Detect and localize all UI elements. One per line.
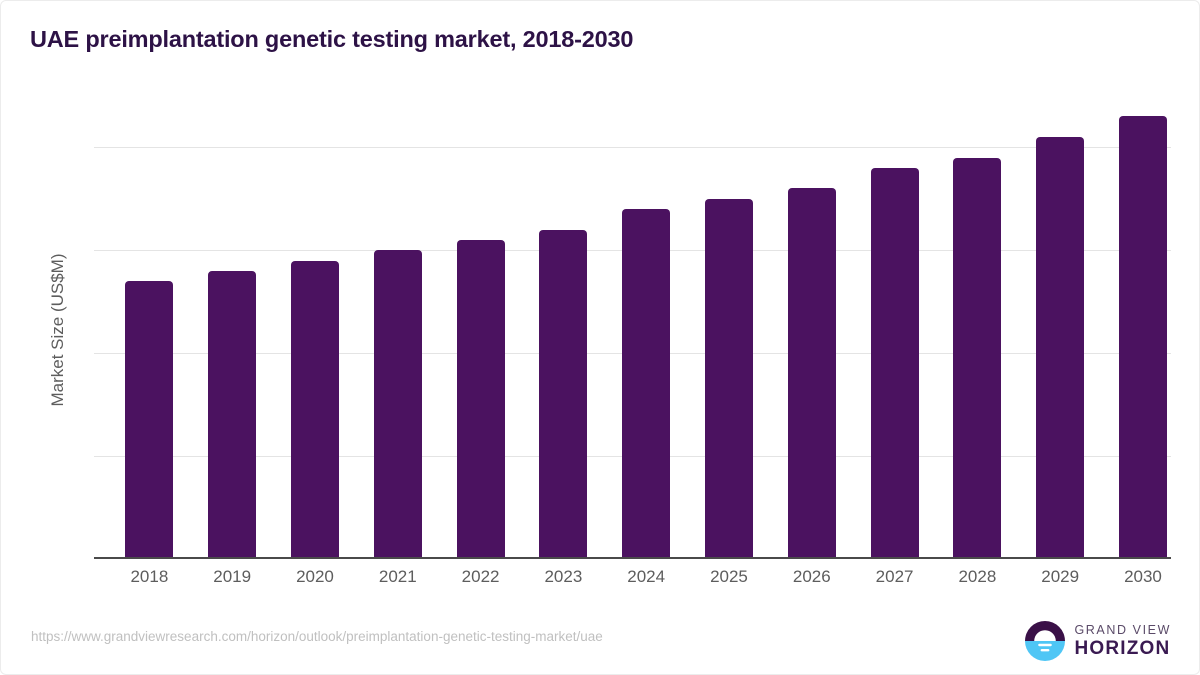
- bar[interactable]: [705, 199, 753, 559]
- bar[interactable]: [622, 209, 670, 559]
- bar-group: 2026: [770, 101, 853, 559]
- x-axis-tick-label: 2020: [296, 567, 334, 587]
- x-axis-tick-label: 2029: [1041, 567, 1079, 587]
- bar-group: 2024: [605, 101, 688, 559]
- x-axis-tick-label: 2024: [627, 567, 665, 587]
- bar-group: 2018: [108, 101, 191, 559]
- horizon-sun-circle-icon: [1025, 621, 1065, 661]
- y-axis-title: Market Size (US$M): [48, 253, 68, 406]
- x-axis-tick-label: 2021: [379, 567, 417, 587]
- bar[interactable]: [208, 271, 256, 559]
- source-url[interactable]: https://www.grandviewresearch.com/horizo…: [31, 629, 603, 644]
- x-axis-tick-label: 2019: [213, 567, 251, 587]
- bar[interactable]: [871, 168, 919, 559]
- x-axis-tick-label: 2030: [1124, 567, 1162, 587]
- x-axis-tick-label: 2027: [876, 567, 914, 587]
- logo-line-2: HORIZON: [1074, 639, 1171, 658]
- plot-area: Market Size (US$M) 01234 201820192020202…: [94, 101, 1171, 559]
- bar[interactable]: [457, 240, 505, 559]
- bar-group: 2023: [522, 101, 605, 559]
- bar[interactable]: [788, 188, 836, 559]
- chart-card: UAE preimplantation genetic testing mark…: [0, 0, 1200, 675]
- x-axis-tick-label: 2028: [958, 567, 996, 587]
- bar[interactable]: [1036, 137, 1084, 559]
- x-axis-tick-label: 2026: [793, 567, 831, 587]
- bar-group: 2029: [1019, 101, 1102, 559]
- logo-wordmark: GRAND VIEW HORIZON: [1074, 624, 1171, 659]
- bar-group: 2028: [936, 101, 1019, 559]
- bar-series: 2018201920202021202220232024202520262027…: [94, 101, 1171, 559]
- x-axis-line: [94, 557, 1171, 559]
- bar[interactable]: [539, 230, 587, 559]
- page-title: UAE preimplantation genetic testing mark…: [30, 26, 633, 53]
- x-axis-tick-label: 2023: [544, 567, 582, 587]
- logo-line-1: GRAND VIEW: [1074, 624, 1171, 637]
- bar[interactable]: [953, 158, 1001, 559]
- bar-group: 2022: [439, 101, 522, 559]
- bar-group: 2020: [274, 101, 357, 559]
- bar-group: 2019: [191, 101, 274, 559]
- grand-view-horizon-logo[interactable]: GRAND VIEW HORIZON: [1025, 621, 1171, 661]
- x-axis-tick-label: 2018: [130, 567, 168, 587]
- bar[interactable]: [291, 261, 339, 559]
- bar-group: 2027: [853, 101, 936, 559]
- x-axis-tick-label: 2022: [462, 567, 500, 587]
- bar-group: 2021: [356, 101, 439, 559]
- bar[interactable]: [374, 250, 422, 559]
- x-axis-tick-label: 2025: [710, 567, 748, 587]
- bar[interactable]: [1119, 116, 1167, 559]
- bar-group: 2025: [688, 101, 771, 559]
- bar[interactable]: [125, 281, 173, 559]
- bar-group: 2030: [1102, 101, 1185, 559]
